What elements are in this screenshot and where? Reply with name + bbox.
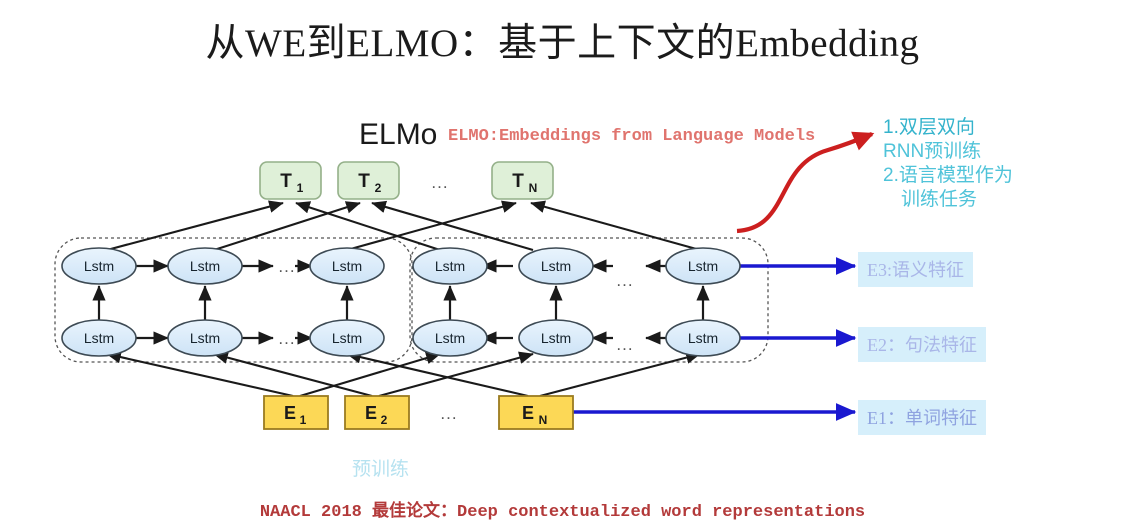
lstm-row-ellipsis: ... (616, 271, 633, 290)
output-node-subscript: 1 (297, 181, 304, 195)
input-node-label: E (522, 403, 534, 423)
lstm-cell[interactable]: Lstm (62, 320, 136, 356)
lstm-cell[interactable]: Lstm (168, 320, 242, 356)
input-node-subscript: N (539, 413, 548, 427)
lstm-cell[interactable]: Lstm (519, 320, 593, 356)
lstm-cell[interactable]: Lstm (413, 320, 487, 356)
lstm-cell-label: Lstm (541, 258, 571, 274)
lstm-cell[interactable]: Lstm (413, 248, 487, 284)
lstm-cell[interactable]: Lstm (310, 320, 384, 356)
lstm-cell-label: Lstm (84, 330, 114, 346)
lstm-row-ellipsis: ... (616, 335, 633, 354)
input-nodes: E 1 E 2 E N ... (264, 396, 573, 429)
output-node-tn[interactable]: T N (492, 162, 553, 199)
output-nodes: T 1 T 2 T N ... (260, 162, 553, 199)
lstm-cell-label: Lstm (541, 330, 571, 346)
red-annotation-arrow (737, 134, 872, 231)
output-node-label: T (512, 171, 524, 192)
lstm-cell-label: Lstm (435, 330, 465, 346)
input-node-label: E (284, 403, 296, 423)
lstm-cell[interactable]: Lstm (62, 248, 136, 284)
lstm-to-output-edges (107, 203, 700, 250)
input-node-en[interactable]: E N (499, 396, 573, 429)
slide-canvas: 从WE到ELMO：基于上下文的Embedding ELMo ELMO:Embed… (0, 0, 1125, 523)
lstm-cell-label: Lstm (688, 330, 718, 346)
lstm-cell[interactable]: Lstm (168, 248, 242, 284)
lstm-row-ellipsis: ... (278, 257, 295, 276)
input-node-label: E (365, 403, 377, 423)
input-to-lstm-edges (107, 354, 700, 396)
elmo-architecture-diagram: Lstm Lstm Lstm Lstm Lstm Lstm (0, 0, 1125, 523)
lstm-cell[interactable]: Lstm (666, 248, 740, 284)
input-node-subscript: 1 (300, 413, 307, 427)
lstm-row-ellipsis: ... (278, 329, 295, 348)
output-node-label: T (358, 171, 370, 192)
lstm-cell-label: Lstm (688, 258, 718, 274)
lstm-cell[interactable]: Lstm (666, 320, 740, 356)
input-node-subscript: 2 (381, 413, 388, 427)
output-node-t1[interactable]: T 1 (260, 162, 321, 199)
output-node-subscript: 2 (375, 181, 382, 195)
lstm-cell-label: Lstm (435, 258, 465, 274)
output-row-ellipsis: ... (431, 173, 448, 192)
lstm-cell-label: Lstm (190, 330, 220, 346)
input-node-e1[interactable]: E 1 (264, 396, 328, 429)
lstm-cell-label: Lstm (84, 258, 114, 274)
output-node-t2[interactable]: T 2 (338, 162, 399, 199)
output-node-subscript: N (529, 181, 538, 195)
input-node-e2[interactable]: E 2 (345, 396, 409, 429)
lstm-cell-label: Lstm (332, 330, 362, 346)
lstm-cell[interactable]: Lstm (519, 248, 593, 284)
lstm-cell-label: Lstm (332, 258, 362, 274)
lstm-layer-edges (99, 286, 703, 322)
lstm-cell-label: Lstm (190, 258, 220, 274)
input-row-ellipsis: ... (440, 404, 457, 423)
output-node-label: T (280, 171, 292, 192)
lstm-cell[interactable]: Lstm (310, 248, 384, 284)
